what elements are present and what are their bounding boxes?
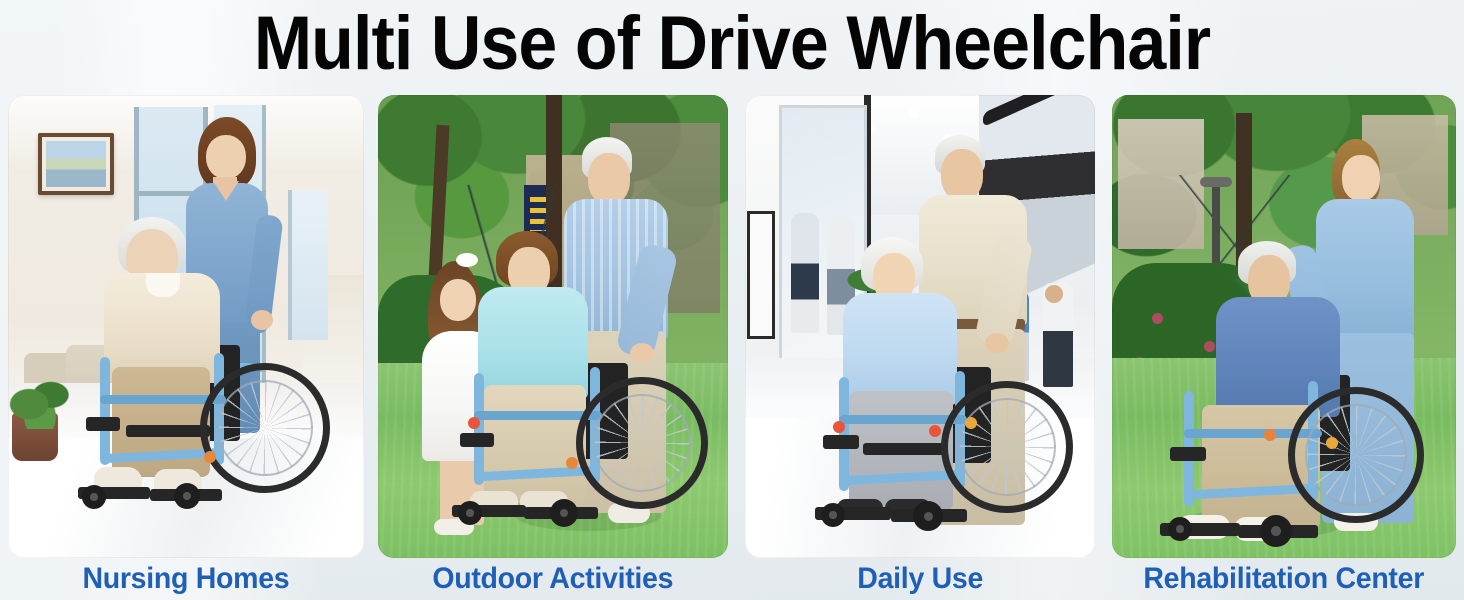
caption-rehabilitation-center: Rehabilitation Center [1112,558,1456,600]
panel-nursing-homes[interactable] [8,95,364,558]
caption-outdoor-activities: Outdoor Activities [378,558,728,600]
caption-rehabilitation-center-label: Rehabilitation Center [1144,558,1425,600]
panel-gallery [0,95,1464,558]
caption-outdoor-activities-label: Outdoor Activities [433,558,674,600]
caption-nursing-homes: Nursing Homes [8,558,364,600]
caption-nursing-homes-label: Nursing Homes [83,558,290,600]
panel-outdoor-activities[interactable] [378,95,728,558]
caption-daily-use: Daily Use [745,558,1095,600]
caption-daily-use-label: Daily Use [857,558,983,600]
panel-daily-use[interactable] [745,95,1095,558]
panel-rehabilitation-center[interactable] [1112,95,1456,558]
page-title: Multi Use of Drive Wheelchair [59,0,1406,90]
